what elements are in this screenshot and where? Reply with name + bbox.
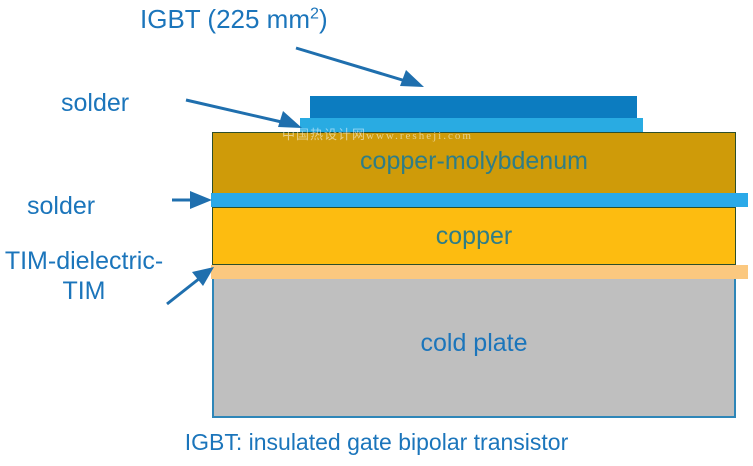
page-title-superscript: 2 [310, 4, 319, 22]
label-solder-top: solder [61, 89, 129, 117]
layer-copper-molybdenum-label: copper-molybdenum [213, 147, 735, 176]
page-title-base: IGBT (225 mm [140, 4, 310, 34]
layer-solder-middle [211, 193, 748, 207]
arrow-igbt [296, 48, 424, 87]
label-solder-middle: solder [27, 192, 95, 220]
layer-copper: copper [212, 207, 736, 265]
page-title: IGBT (225 mm2) [140, 5, 328, 34]
page-title-tail: ) [319, 4, 328, 34]
layer-cold-plate-label: cold plate [214, 329, 734, 358]
arrow-solder-middle [172, 191, 212, 209]
diagram-caption: IGBT: insulated gate bipolar transistor [0, 430, 753, 456]
layer-solder-top [300, 118, 643, 132]
label-tim-dielectric-tim: TIM-dielectric-TIM [0, 247, 168, 306]
layer-igbt-die [310, 96, 637, 118]
cross-section-stack: copper-molybdenum copper cold plate [211, 88, 753, 418]
arrow-tim [167, 267, 214, 304]
layer-copper-label: copper [213, 222, 735, 251]
layer-cold-plate: cold plate [212, 279, 736, 418]
diagram-canvas: IGBT (225 mm2) solder solder TIM-dielect… [0, 0, 753, 466]
layer-copper-molybdenum: copper-molybdenum [212, 132, 736, 194]
layer-tim-dielectric-tim [211, 265, 748, 279]
